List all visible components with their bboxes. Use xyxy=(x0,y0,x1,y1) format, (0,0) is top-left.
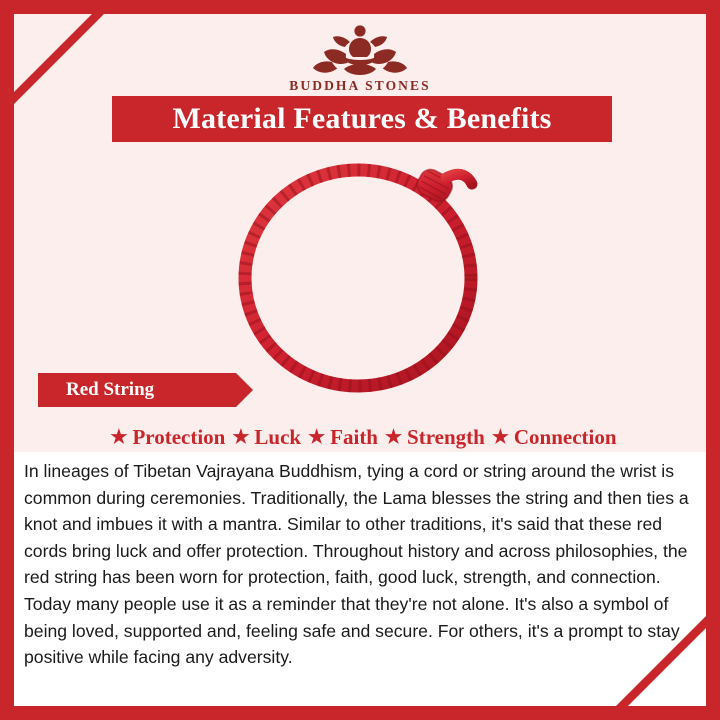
star-icon: ★ xyxy=(110,428,127,447)
benefit-label: Luck xyxy=(254,425,301,450)
product-label: Red String xyxy=(66,379,154,401)
benefit-label: Protection xyxy=(132,425,225,450)
benefit-item-strength: ★ Strength xyxy=(378,425,485,450)
star-icon: ★ xyxy=(492,428,509,447)
benefit-item-protection: ★ Protection xyxy=(103,425,225,450)
infographic-page: BUDDHA STONES Material Features & Benefi… xyxy=(0,0,720,720)
benefit-item-faith: ★ Faith xyxy=(301,425,378,450)
red-string-bracelet-illustration xyxy=(210,150,510,400)
product-label-banner: Red String xyxy=(38,373,236,407)
brand-name: BUDDHA STONES xyxy=(289,78,430,94)
section-title-banner: Material Features & Benefits xyxy=(112,96,612,142)
star-icon: ★ xyxy=(232,428,249,447)
product-image xyxy=(14,150,706,400)
description-text: In lineages of Tibetan Vajrayana Buddhis… xyxy=(24,458,700,671)
benefit-item-luck: ★ Luck xyxy=(225,425,301,450)
star-icon: ★ xyxy=(385,428,402,447)
benefit-label: Faith xyxy=(330,425,378,450)
benefit-label: Strength xyxy=(407,425,485,450)
star-icon: ★ xyxy=(308,428,325,447)
brand-logo: BUDDHA STONES xyxy=(289,20,430,94)
benefit-label: Connection xyxy=(514,425,617,450)
lotus-meditation-icon xyxy=(289,20,430,76)
page-title: Material Features & Benefits xyxy=(172,102,551,136)
benefits-list: ★ Protection ★ Luck ★ Faith ★ Strength ★… xyxy=(20,420,700,454)
brand-header: BUDDHA STONES xyxy=(14,14,706,98)
benefit-item-connection: ★ Connection xyxy=(485,425,617,450)
